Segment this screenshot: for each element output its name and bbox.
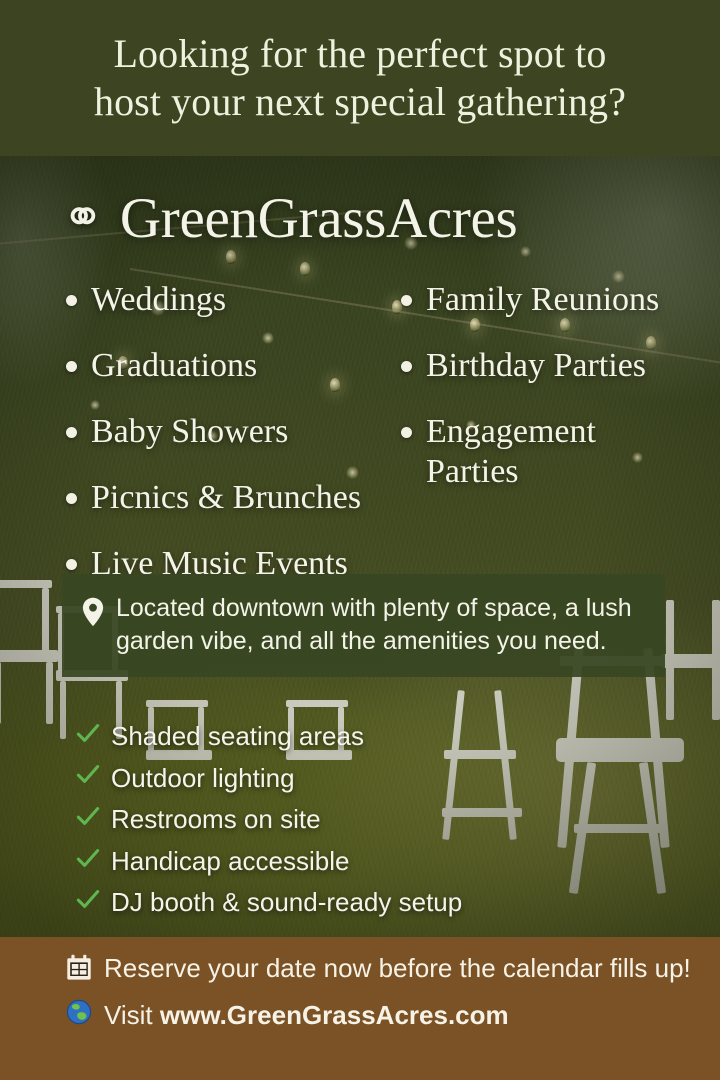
headline-line-1: Looking for the perfect spot to	[114, 31, 607, 76]
globe-icon	[66, 999, 92, 1032]
bullet-icon	[401, 427, 412, 438]
list-item: Graduations	[66, 346, 385, 386]
event-types-list: Weddings Graduations Baby Showers Picnic…	[0, 280, 720, 611]
list-item: Shaded seating areas	[76, 722, 636, 751]
check-icon	[76, 889, 100, 916]
visit-text: Visit www.GreenGrassAcres.com	[104, 1000, 509, 1030]
main-content: ⚭ GreenGrassAcres Weddings Graduations B…	[0, 156, 720, 937]
list-item: DJ booth & sound-ready setup	[76, 888, 636, 917]
check-icon	[76, 723, 100, 750]
interlocking-rings-icon: ⚭	[62, 192, 104, 242]
website-url[interactable]: www.GreenGrassAcres.com	[160, 1000, 509, 1030]
amenity-label: Shaded seating areas	[111, 722, 364, 751]
bullet-icon	[66, 427, 77, 438]
bullet-icon	[66, 295, 77, 306]
headline: Looking for the perfect spot to host you…	[66, 30, 654, 126]
footer-band: Reserve your date now before the calenda…	[0, 937, 720, 1080]
event-type-label: Baby Showers	[91, 412, 288, 452]
list-item: Weddings	[66, 280, 385, 320]
brand-name: GreenGrassAcres	[120, 190, 517, 247]
amenity-label: Outdoor lighting	[111, 764, 295, 793]
location-callout: Located downtown with plenty of space, a…	[62, 574, 665, 677]
calendar-icon	[66, 954, 92, 988]
list-item: Birthday Parties	[401, 346, 720, 386]
event-type-label: Picnics & Brunches	[91, 478, 361, 518]
list-item: Restrooms on site	[76, 805, 636, 834]
event-type-label: Weddings	[91, 280, 226, 320]
amenity-label: Restrooms on site	[111, 805, 321, 834]
amenity-label: DJ booth & sound-ready setup	[111, 888, 462, 917]
map-pin-icon	[82, 597, 104, 657]
event-types-left-column: Weddings Graduations Baby Showers Picnic…	[0, 280, 385, 611]
amenities-list: Shaded seating areas Outdoor lighting Re…	[76, 722, 636, 930]
event-types-right-column: Family Reunions Birthday Parties Engagem…	[385, 280, 720, 611]
header-band: Looking for the perfect spot to host you…	[0, 0, 720, 156]
list-item: Picnics & Brunches	[66, 478, 385, 518]
event-type-label: Engagement Parties	[426, 412, 658, 492]
check-icon	[76, 806, 100, 833]
visit-row[interactable]: Visit www.GreenGrassAcres.com	[66, 998, 696, 1032]
bullet-icon	[66, 559, 77, 570]
list-item: Handicap accessible	[76, 847, 636, 876]
bullet-icon	[66, 361, 77, 372]
poster-canvas: Looking for the perfect spot to host you…	[0, 0, 720, 1080]
bullet-icon	[401, 361, 412, 372]
event-type-label: Family Reunions	[426, 280, 659, 320]
check-icon	[76, 764, 100, 791]
event-type-label: Graduations	[91, 346, 257, 386]
visit-prefix: Visit	[104, 1000, 160, 1030]
headline-line-2: host your next special gathering?	[94, 78, 626, 126]
list-item: Engagement Parties	[401, 412, 720, 492]
brand-lockup: ⚭ GreenGrassAcres	[62, 190, 517, 247]
reserve-text: Reserve your date now before the calenda…	[104, 953, 691, 983]
bullet-icon	[66, 493, 77, 504]
list-item: Baby Showers	[66, 412, 385, 452]
location-callout-text: Located downtown with plenty of space, a…	[116, 592, 643, 657]
list-item: Outdoor lighting	[76, 764, 636, 793]
amenity-label: Handicap accessible	[111, 847, 349, 876]
check-icon	[76, 848, 100, 875]
event-type-label: Birthday Parties	[426, 346, 646, 386]
list-item: Family Reunions	[401, 280, 720, 320]
reserve-row: Reserve your date now before the calenda…	[66, 953, 696, 988]
bullet-icon	[401, 295, 412, 306]
